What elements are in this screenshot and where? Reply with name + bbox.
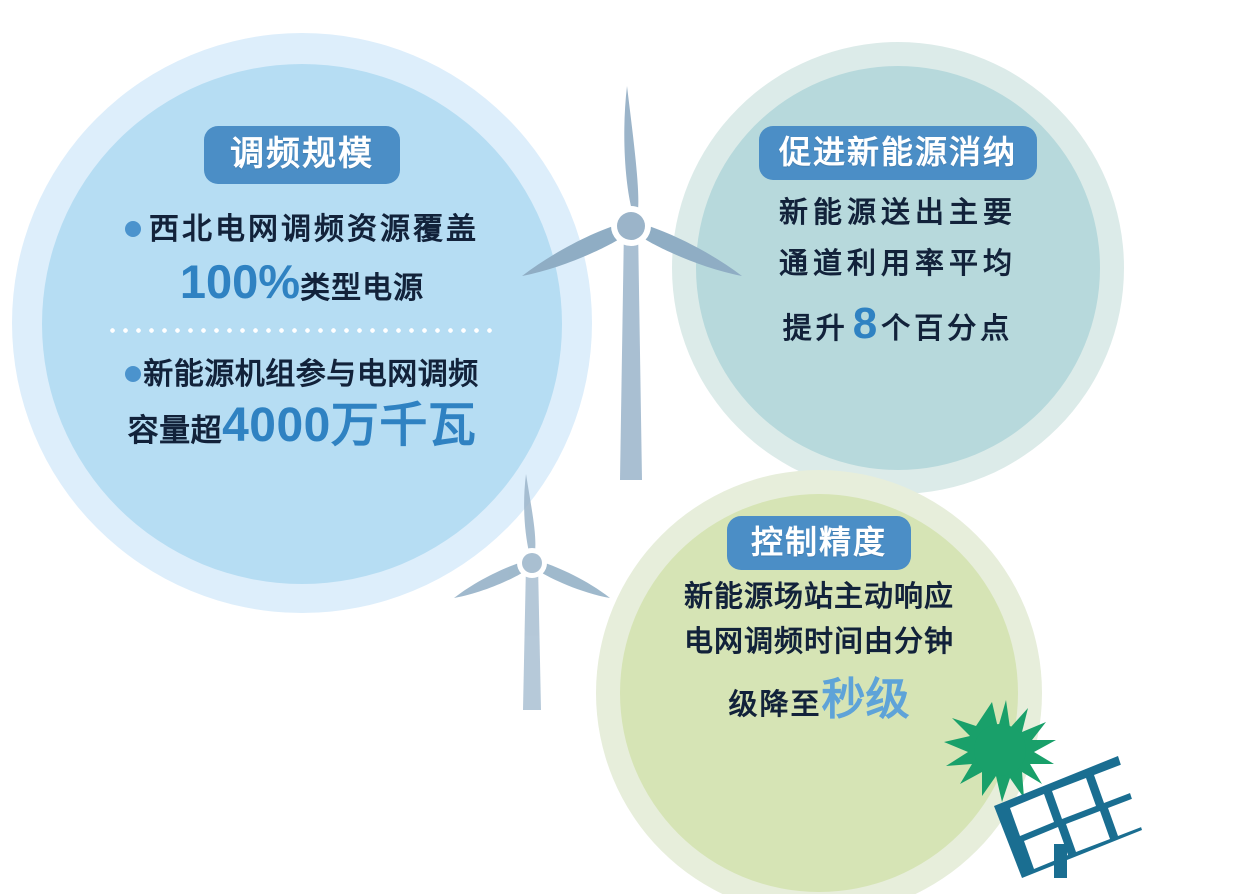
dotted-divider <box>106 328 498 333</box>
bullet-dot-icon <box>125 366 141 382</box>
absorption-line-2: 通道利用率平均 <box>696 247 1100 282</box>
fm-item2-line1-text: 新能源机组参与电网调频 <box>143 358 479 391</box>
control-precision-block: 控制精度 新能源场站主动响应 电网调频时间由分钟 级降至秒级 <box>620 516 1018 726</box>
frequency-regulation-block: 调频规模 西北电网调频资源覆盖 100%类型电源 新能源机组参与电网调频 容量超… <box>42 126 562 455</box>
fm-item2-suffix: 万千瓦 <box>331 399 477 452</box>
wind-turbine-icon <box>432 468 632 798</box>
absorption-line3-prefix: 提升 <box>783 313 849 345</box>
control-line-3: 级降至秒级 <box>620 674 1018 727</box>
absorption-line3-suffix: 个百分点 <box>881 313 1013 345</box>
fm-item1-value: 100% <box>180 255 300 308</box>
fm-item1-suffix: 类型电源 <box>300 272 424 305</box>
fm-item1-line1: 西北电网调频资源覆盖 <box>42 212 562 248</box>
control-line-1: 新能源场站主动响应 <box>620 580 1018 615</box>
fm-item2-value: 4000 <box>222 399 331 452</box>
absorption-value: 8 <box>849 299 881 348</box>
frequency-regulation-badge: 调频规模 <box>204 126 400 184</box>
infographic-canvas: 调频规模 西北电网调频资源覆盖 100%类型电源 新能源机组参与电网调频 容量超… <box>0 0 1242 894</box>
absorption-line-1: 新能源送出主要 <box>696 196 1100 231</box>
frequency-regulation-item-2: 新能源机组参与电网调频 容量超4000万千瓦 <box>42 357 562 455</box>
renewable-absorption-badge: 促进新能源消纳 <box>759 126 1037 180</box>
fm-item1-line2: 100%类型电源 <box>42 254 562 310</box>
absorption-line-3: 提升8个百分点 <box>696 298 1100 351</box>
fm-item1-line1-text: 西北电网调频资源覆盖 <box>149 213 479 246</box>
renewable-absorption-block: 促进新能源消纳 新能源送出主要 通道利用率平均 提升8个百分点 <box>696 126 1100 350</box>
control-line-2: 电网调频时间由分钟 <box>620 625 1018 660</box>
fm-item2-prefix: 容量超 <box>128 413 223 448</box>
fm-item2-line2: 容量超4000万千瓦 <box>42 397 562 455</box>
control-precision-badge: 控制精度 <box>727 516 911 570</box>
bullet-dot-icon <box>125 221 141 237</box>
control-value: 秒级 <box>822 675 910 724</box>
control-line3-prefix: 级降至 <box>728 689 821 721</box>
frequency-regulation-item-1: 西北电网调频资源覆盖 100%类型电源 <box>42 212 562 310</box>
fm-item2-line1: 新能源机组参与电网调频 <box>42 357 562 393</box>
